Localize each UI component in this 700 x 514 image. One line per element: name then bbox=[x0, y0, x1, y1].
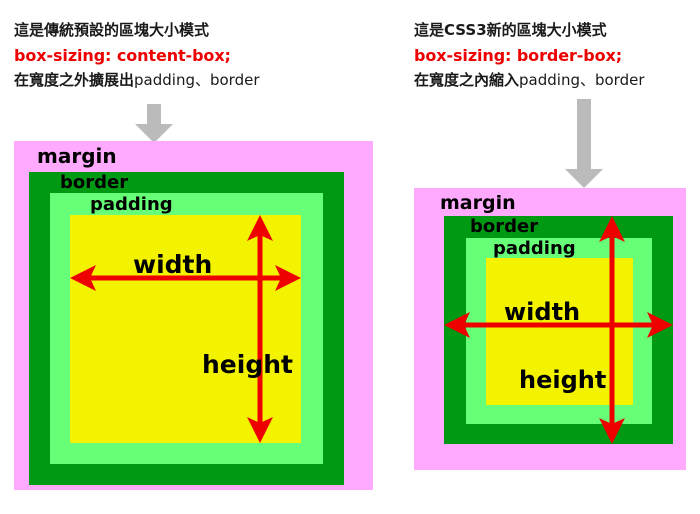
right-border-label: border bbox=[470, 218, 538, 236]
caption-content-box: 這是傳統預設的區塊大小模式 box-sizing: content-box; 在… bbox=[14, 18, 260, 93]
caption-left-line-1: 這是傳統預設的區塊大小模式 bbox=[14, 18, 260, 43]
left-height-label: height bbox=[202, 352, 293, 377]
caption-right-line-3: 在寬度之內縮入padding、border bbox=[414, 68, 645, 93]
caption-left-code: box-sizing: content-box; bbox=[14, 43, 260, 68]
right-height-label: height bbox=[519, 368, 606, 392]
left-border-label: border bbox=[60, 174, 128, 192]
grey-down-arrow-right bbox=[563, 99, 605, 189]
caption-border-box: 這是CSS3新的區塊大小模式 box-sizing: border-box; 在… bbox=[414, 18, 645, 93]
left-margin-label: margin bbox=[37, 146, 117, 166]
caption-right-code: box-sizing: border-box; bbox=[414, 43, 645, 68]
right-padding-label: padding bbox=[493, 240, 576, 258]
right-margin-label: margin bbox=[440, 194, 516, 213]
left-width-label: width bbox=[133, 252, 212, 277]
diagram-canvas: 這是傳統預設的區塊大小模式 box-sizing: content-box; 在… bbox=[0, 0, 700, 514]
caption-right-line-3-prefix: 在寬度之內縮入 bbox=[414, 71, 519, 89]
grey-down-arrow-left bbox=[133, 104, 175, 144]
caption-right-line-1: 這是CSS3新的區塊大小模式 bbox=[414, 18, 645, 43]
right-width-label: width bbox=[504, 300, 580, 324]
caption-left-line-3: 在寬度之外擴展出padding、border bbox=[14, 68, 260, 93]
caption-left-line-3-mono: padding、border bbox=[134, 71, 259, 89]
caption-right-line-3-mono: padding、border bbox=[519, 71, 644, 89]
left-padding-label: padding bbox=[90, 196, 173, 214]
caption-left-line-3-prefix: 在寬度之外擴展出 bbox=[14, 71, 134, 89]
